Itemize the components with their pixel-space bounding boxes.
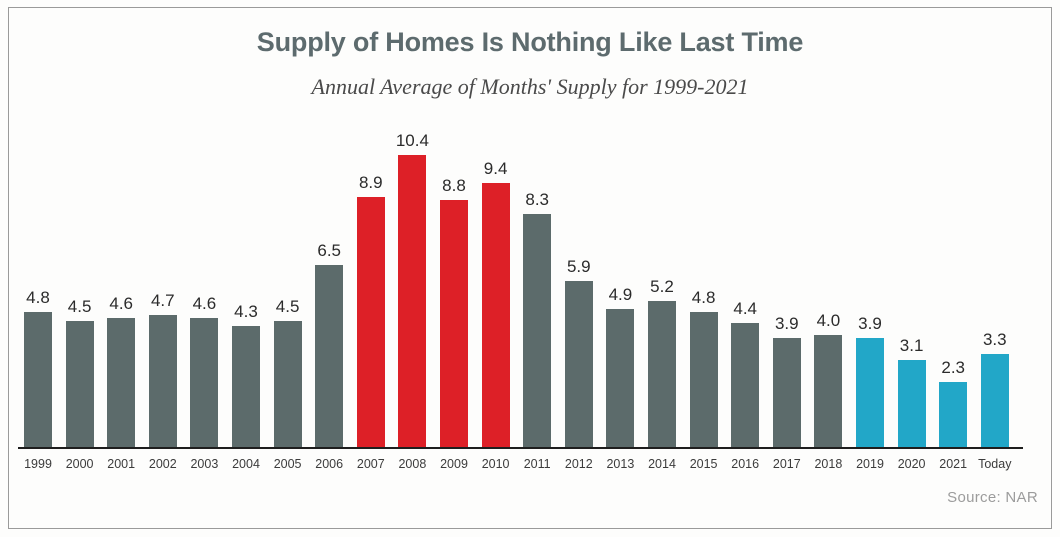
bar-value-2010: 9.4 (466, 159, 526, 179)
bar-today (981, 354, 1009, 447)
bar-2021 (939, 382, 967, 447)
bar-2000 (66, 321, 94, 447)
bar-2014 (648, 301, 676, 447)
bar-1999 (24, 312, 52, 447)
bar-value-2021: 2.3 (923, 358, 983, 378)
bar-2020 (898, 360, 926, 447)
bar-2009 (440, 200, 468, 447)
source-note: Source: NAR (947, 489, 1038, 506)
bar-2008 (398, 155, 426, 447)
bar-2016 (731, 323, 759, 447)
bar-value-2012: 5.9 (549, 257, 609, 277)
x-axis-line (18, 447, 1023, 449)
chart-page: Supply of Homes Is Nothing Like Last Tim… (0, 0, 1060, 537)
bar-value-2020: 3.1 (882, 336, 942, 356)
bar-2012 (565, 281, 593, 447)
bar-value-2005: 4.5 (258, 297, 318, 317)
bar-value-2006: 6.5 (299, 241, 359, 261)
bar-2019 (856, 338, 884, 448)
bar-2007 (357, 197, 385, 447)
bar-value-2019: 3.9 (840, 314, 900, 334)
bar-2004 (232, 326, 260, 447)
bar-2011 (523, 214, 551, 447)
bar-2005 (274, 321, 302, 447)
bar-2017 (773, 338, 801, 448)
bar-value-today: 3.3 (965, 330, 1025, 350)
bar-2002 (149, 315, 177, 447)
x-tick-today: Today (965, 457, 1025, 471)
bar-2013 (606, 309, 634, 447)
bar-2018 (814, 335, 842, 447)
bar-value-2011: 8.3 (507, 190, 567, 210)
bar-value-2007: 8.9 (341, 173, 401, 193)
bar-2015 (690, 312, 718, 447)
bar-value-2008: 10.4 (382, 131, 442, 151)
plot-area: 4.819994.520004.620014.720024.620034.320… (0, 0, 1060, 537)
bar-2010 (482, 183, 510, 447)
bar-2001 (107, 318, 135, 447)
bar-2003 (190, 318, 218, 447)
bar-2006 (315, 265, 343, 448)
